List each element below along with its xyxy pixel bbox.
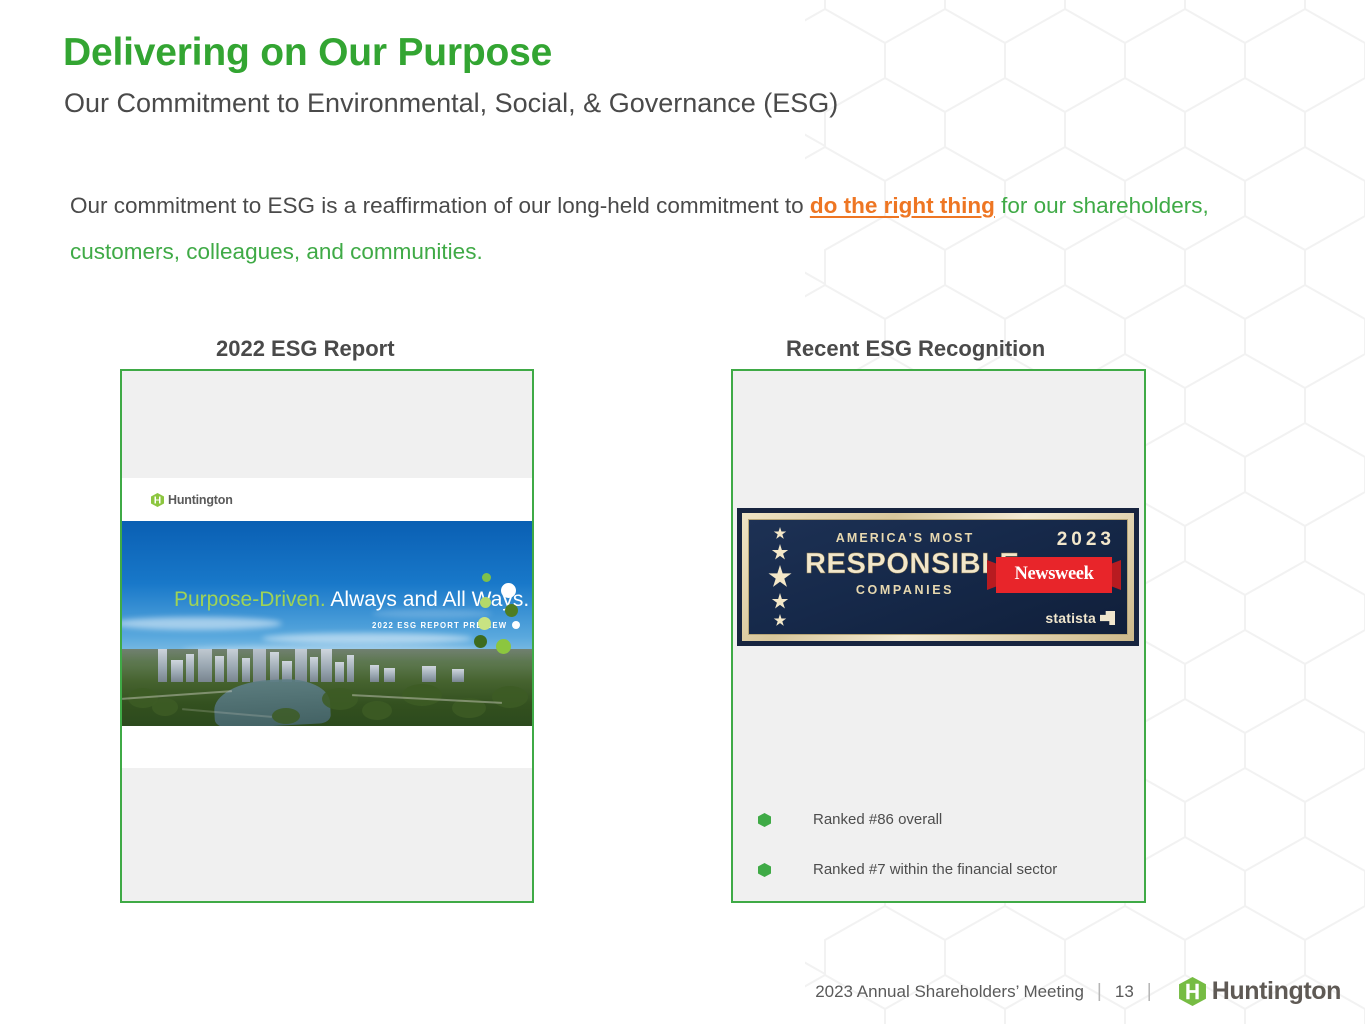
column-heading-esg-report: 2022 ESG Report <box>216 336 395 362</box>
lead-paragraph: Our commitment to ESG is a reaffirmation… <box>70 183 1285 275</box>
star-icon <box>774 527 787 540</box>
esg-report-panel[interactable]: Huntington <box>120 369 534 903</box>
badge-year: 2023 <box>1057 529 1115 551</box>
footer-separator-right: | <box>1147 981 1152 1003</box>
badge-line-top: AMERICA'S MOST <box>805 531 1005 545</box>
huntington-logo: Huntington <box>1179 977 1341 1006</box>
cover-headline-green: Purpose-Driven. <box>174 588 326 611</box>
star-icon <box>772 593 789 610</box>
huntington-wordmark: Huntington <box>1212 977 1341 1006</box>
star-icon <box>772 544 789 561</box>
page-title: Delivering on Our Purpose <box>63 31 552 75</box>
footer-page-number: 13 <box>1115 982 1134 1002</box>
slide-canvas: Delivering on Our Purpose Our Commitment… <box>0 0 1365 1024</box>
city-skyline <box>122 649 532 726</box>
list-item: Ranked #7 within the financial sector <box>758 861 1138 878</box>
newsweek-wordmark: Newsweek <box>987 564 1121 585</box>
badge-gold-frame: AMERICA'S MOST RESPONSIBLE COMPANIES 202… <box>742 513 1134 641</box>
hexagon-bullet-icon <box>758 813 771 827</box>
lead-text-part1: Our commitment to ESG is a reaffirmation… <box>70 193 810 218</box>
hexagon-bullet-icon <box>758 863 771 877</box>
cover-header-bar: Huntington <box>122 478 532 521</box>
esg-recognition-panel[interactable]: AMERICA'S MOST RESPONSIBLE COMPANIES 202… <box>731 369 1146 903</box>
badge-inner: AMERICA'S MOST RESPONSIBLE COMPANIES 202… <box>748 519 1128 635</box>
badge-text-block: AMERICA'S MOST RESPONSIBLE COMPANIES <box>805 531 1005 597</box>
list-item: Ranked #86 overall <box>758 811 1138 828</box>
footer-separator-left: | <box>1097 981 1102 1003</box>
huntington-wordmark-small: Huntington <box>168 493 233 507</box>
footer-meeting-label: 2023 Annual Shareholders’ Meeting <box>815 982 1084 1002</box>
star-icon <box>774 614 787 627</box>
statista-wordmark: statista <box>1045 610 1096 626</box>
statista-logo: statista <box>1045 610 1115 626</box>
cover-photo: Purpose-Driven. Always and All Ways. 202… <box>122 521 532 726</box>
star-column <box>763 527 797 635</box>
list-item-label: Ranked #7 within the financial sector <box>813 861 1057 878</box>
newsweek-ribbon: Newsweek <box>987 557 1121 593</box>
huntington-hexagon-icon <box>151 493 164 507</box>
esg-report-cover-image: Huntington <box>122 478 532 768</box>
cloud <box>262 633 472 644</box>
column-heading-esg-recognition: Recent ESG Recognition <box>786 336 1045 362</box>
decorative-dot-cluster <box>472 573 528 659</box>
badge-line-bottom: COMPANIES <box>805 583 1005 597</box>
huntington-hexagon-icon <box>1179 977 1206 1006</box>
star-icon <box>768 565 792 589</box>
recognition-bullet-list: Ranked #86 overall Ranked #7 within the … <box>758 811 1138 903</box>
badge-line-main: RESPONSIBLE <box>805 547 1005 581</box>
page-subtitle: Our Commitment to Environmental, Social,… <box>64 88 838 119</box>
lead-highlight-do-the-right-thing: do the right thing <box>810 193 995 218</box>
list-item-label: Ranked #86 overall <box>813 811 942 828</box>
newsweek-responsible-companies-badge: AMERICA'S MOST RESPONSIBLE COMPANIES 202… <box>737 508 1139 646</box>
statista-mark-icon <box>1100 611 1115 625</box>
huntington-logo-small: Huntington <box>151 493 233 507</box>
cover-footer-bar <box>122 726 532 768</box>
slide-footer: 2023 Annual Shareholders’ Meeting | 13 |… <box>815 977 1341 1006</box>
